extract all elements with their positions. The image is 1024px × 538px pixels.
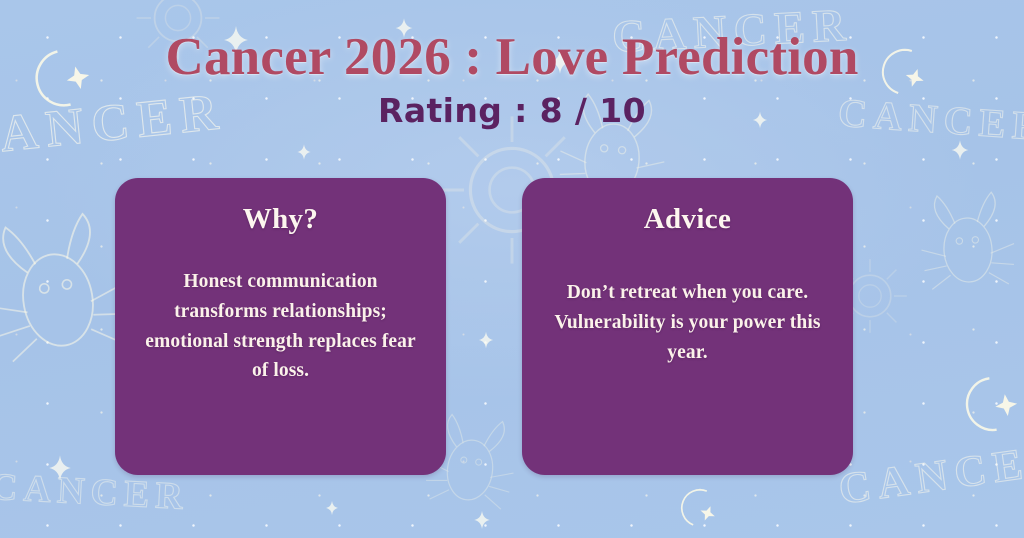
page-title: Cancer 2026 : Love Prediction — [0, 29, 1024, 85]
advice-card-body: Don’t retreat when you care. Vulnerabili… — [544, 278, 831, 367]
why-card-body: Honest communication transforms relation… — [137, 267, 424, 386]
advice-card: Advice Don’t retreat when you care. Vuln… — [522, 178, 853, 475]
why-card: Why? Honest communication transforms rel… — [115, 178, 446, 475]
rating-label: Rating : 8 / 10 — [0, 94, 1024, 129]
horoscope-card-canvas: CANCER CANCER CANCER CANCER CANCER Cance… — [0, 0, 1024, 538]
header: Cancer 2026 : Love Prediction Rating : 8… — [0, 0, 1024, 129]
prediction-cards: Why? Honest communication transforms rel… — [115, 178, 853, 475]
why-card-title: Why? — [137, 204, 424, 236]
advice-card-title: Advice — [544, 204, 831, 236]
